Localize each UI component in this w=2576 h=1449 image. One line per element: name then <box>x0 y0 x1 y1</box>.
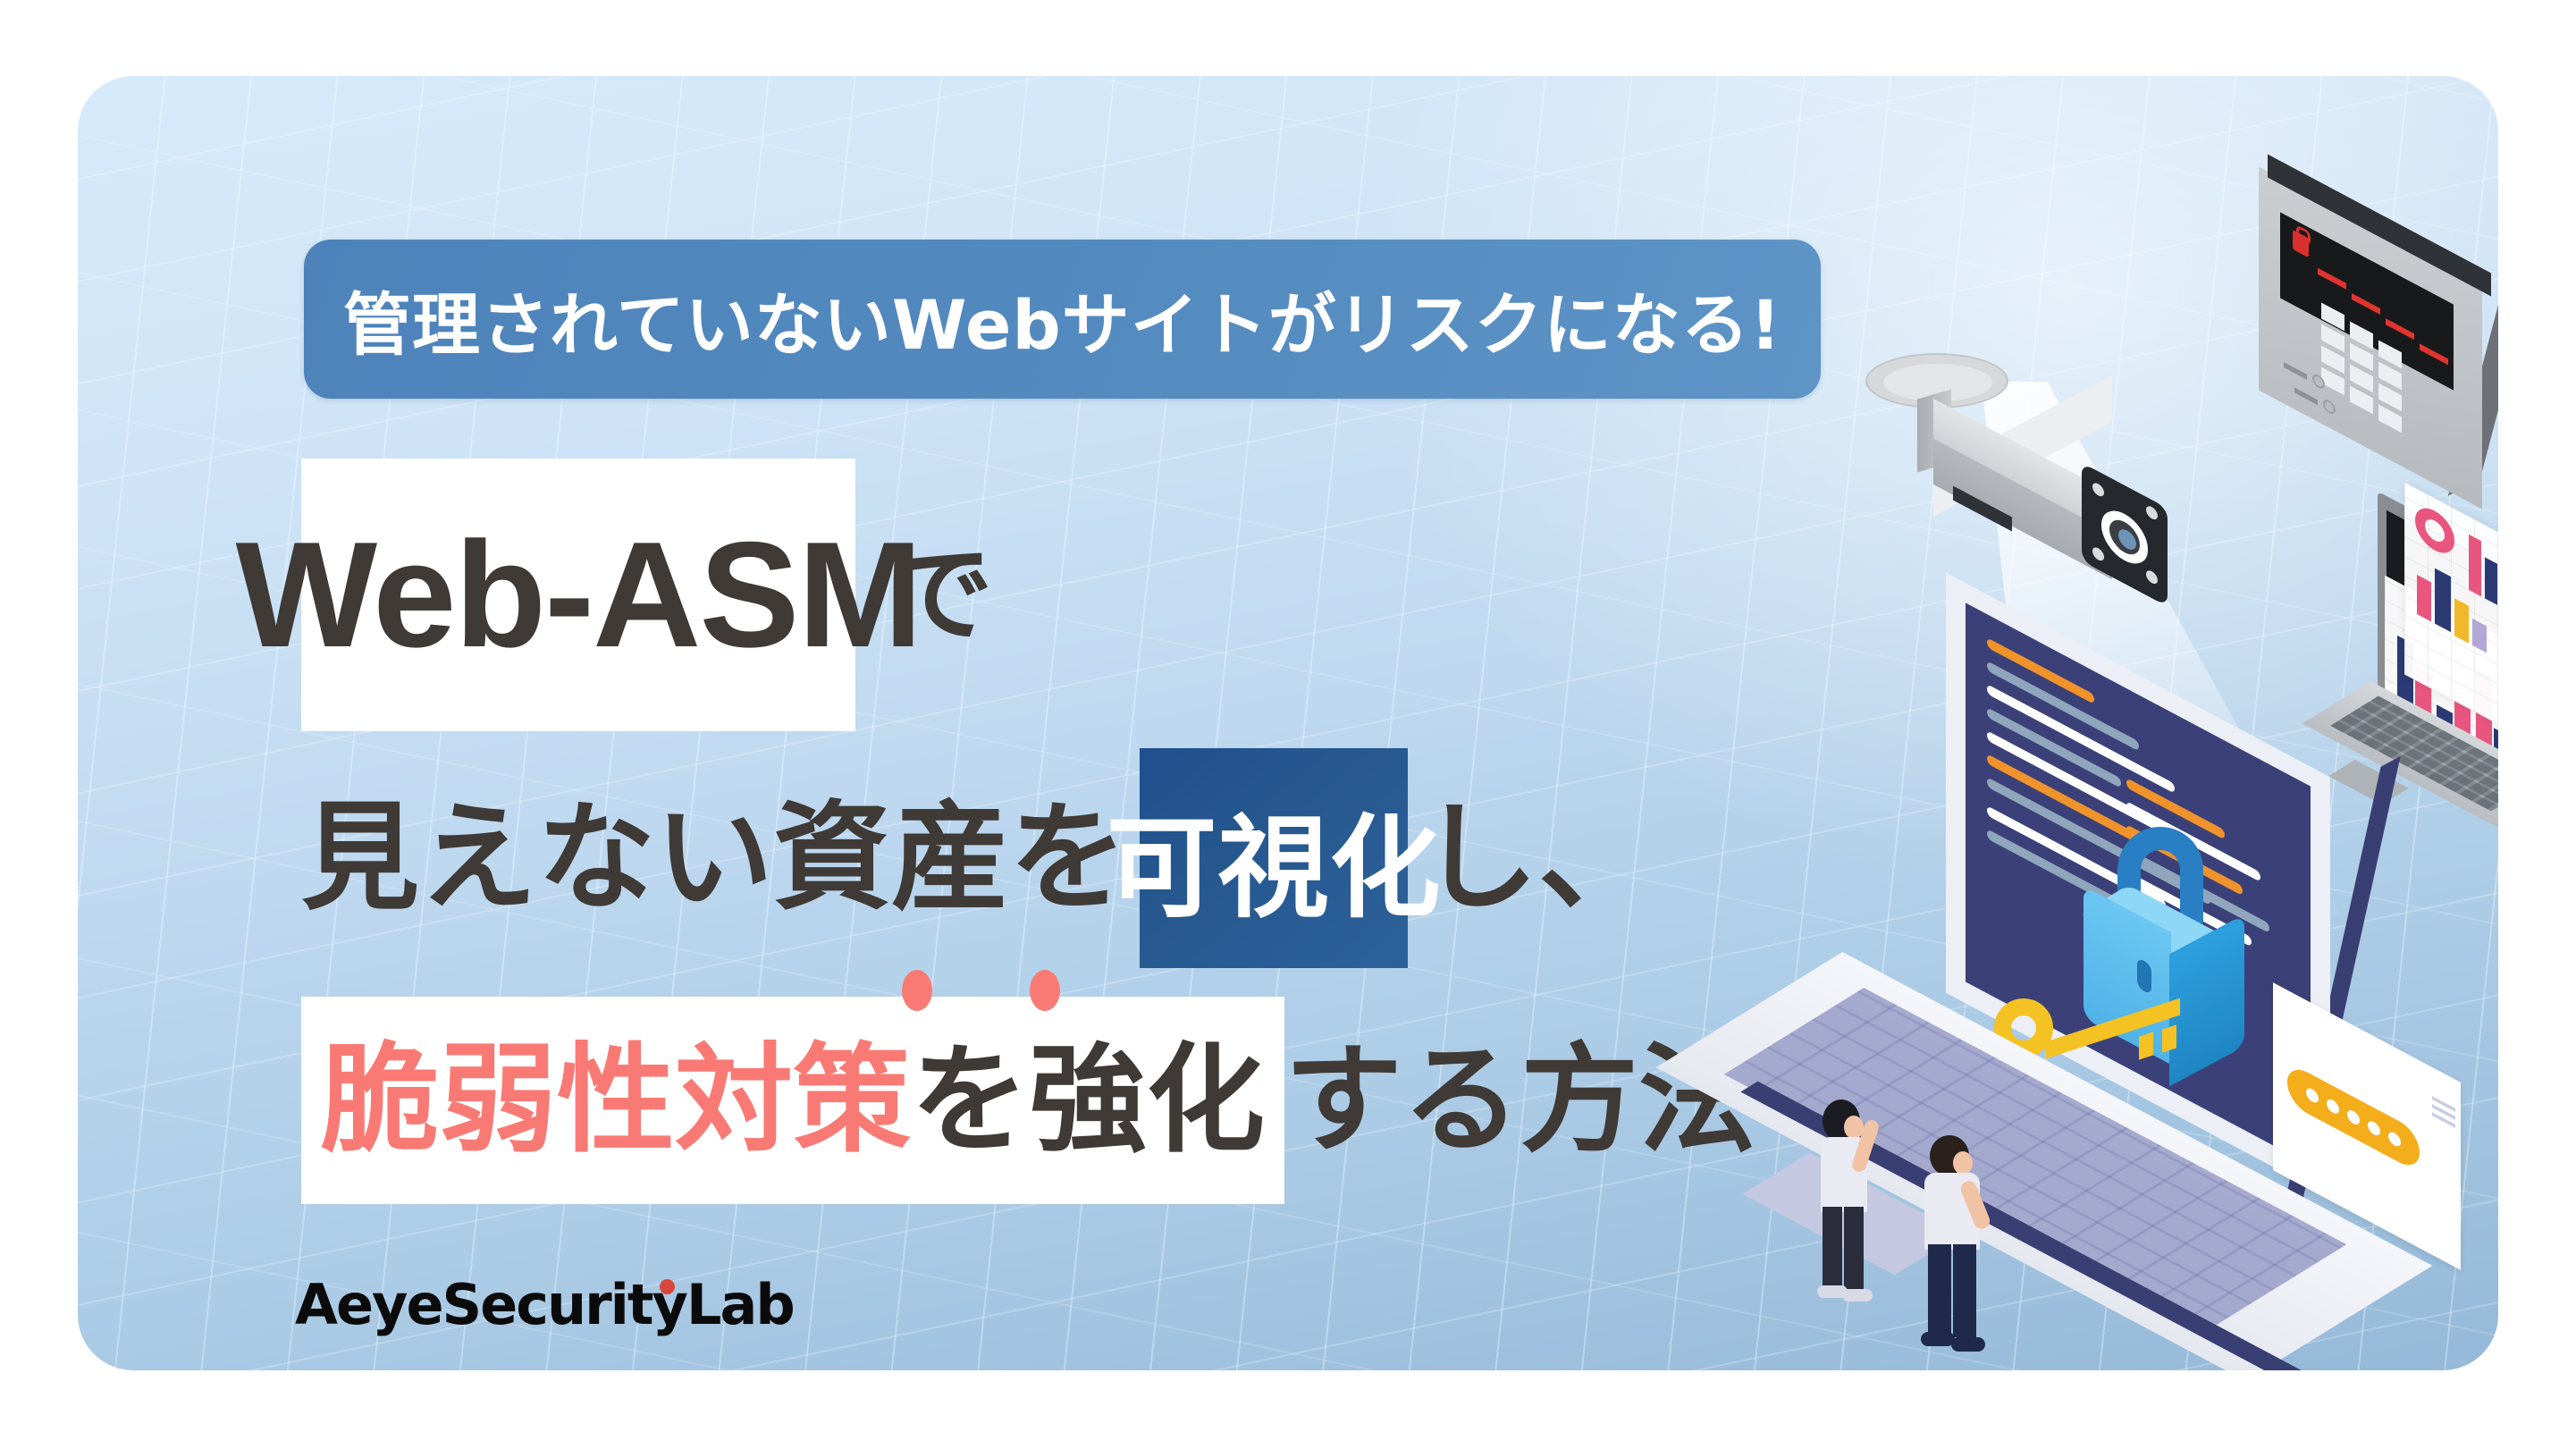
analytics-bar-f5 <box>2417 575 2431 622</box>
headline-line-1: Web-ASM で <box>301 451 1756 737</box>
analytics-bar-f1 <box>2469 535 2481 596</box>
headline-kyouka-box: 脆弱性対策 を強化 <box>301 997 1284 1204</box>
key-shaft <box>2046 998 2180 1059</box>
hero-illustration <box>1687 174 2498 1370</box>
headline-wokyouka-text: を強化 <box>911 1041 1265 1159</box>
keypad-display-bar-1 <box>2318 268 2346 290</box>
security-camera-icon <box>1848 353 2205 621</box>
brand-logo-text: AeyeSecurityLab <box>295 1272 794 1337</box>
keypad-display-bar-2 <box>2352 293 2380 315</box>
person-woman <box>1803 1099 1901 1305</box>
analytics-bar-f7 <box>2454 598 2469 644</box>
password-dot-4 <box>2368 1119 2380 1138</box>
headline-line2-prefix: 見えない資産を <box>301 799 1127 917</box>
camera-lens-ring <box>2101 501 2148 573</box>
headline-line2-suffix: し、 <box>1420 799 1656 917</box>
key-icon <box>1994 979 2191 1059</box>
password-dot-1 <box>2306 1086 2319 1105</box>
padlock-icon <box>2071 827 2277 1050</box>
key-tooth-1 <box>2139 1032 2153 1059</box>
camera-screw-2 <box>2146 504 2158 522</box>
brand-logo: AeyeSecurityLab <box>295 1272 794 1337</box>
headline: Web-ASM で 見えない資産を 可視化 し、 脆弱性対策 を強化 する方法 <box>301 451 1756 1220</box>
man-shoe-right <box>1951 1337 1985 1352</box>
camera-screw-1 <box>2092 481 2104 499</box>
emphasis-dot-icon-1 <box>902 970 932 1011</box>
hero-card: 管理されていないWebサイトがリスクになる! Web-ASM で 見えない資産を… <box>78 76 2498 1370</box>
camera-lens <box>2118 526 2136 553</box>
woman-leg-right <box>1844 1207 1864 1289</box>
headline-zeijakusei-text: 脆弱性対策 <box>321 1041 911 1159</box>
man-leg-left <box>1928 1244 1951 1337</box>
headline-line-3: 脆弱性対策 を強化 する方法 <box>301 981 1756 1220</box>
logo-red-dot-icon <box>660 1279 675 1294</box>
emphasis-dot-icon-2 <box>1030 970 1060 1011</box>
headline-kashika-text: 可視化 <box>1107 778 1442 939</box>
camera-front-plate <box>2082 462 2168 606</box>
man-shoe-left <box>1921 1332 1955 1346</box>
analytics-bar-f6 <box>2435 569 2451 633</box>
password-dot-2 <box>2327 1097 2339 1116</box>
woman-shoe-right <box>1842 1289 1873 1302</box>
eyebrow-badge-label: 管理されていないWebサイトがリスクになる! <box>343 270 1781 368</box>
headline-line-2: 見えない資産を 可視化 し、 <box>301 746 1756 970</box>
alarm-keypad-icon <box>2259 226 2498 485</box>
woman-leg-left <box>1823 1207 1842 1289</box>
eyebrow-badge: 管理されていないWebサイトがリスクになる! <box>304 240 1821 399</box>
password-dot-5 <box>2388 1130 2401 1149</box>
keypad-display-bar-3 <box>2386 318 2414 340</box>
headline-kashika-box: 可視化 <box>1140 748 1408 968</box>
password-dot-3 <box>2347 1108 2360 1126</box>
person-man <box>1908 1135 2016 1359</box>
headline-webasm-box: Web-ASM <box>301 459 855 731</box>
man-leg-right <box>1953 1244 1976 1337</box>
man-face <box>1953 1151 1973 1175</box>
headline-webasm-text: Web-ASM <box>236 509 922 681</box>
key-tooth-2 <box>2162 1024 2176 1052</box>
keypad-lock-icon <box>2293 230 2309 258</box>
camera-screw-4 <box>2146 569 2158 586</box>
camera-screw-3 <box>2092 545 2104 563</box>
analytics-bar-f2 <box>2485 557 2497 604</box>
